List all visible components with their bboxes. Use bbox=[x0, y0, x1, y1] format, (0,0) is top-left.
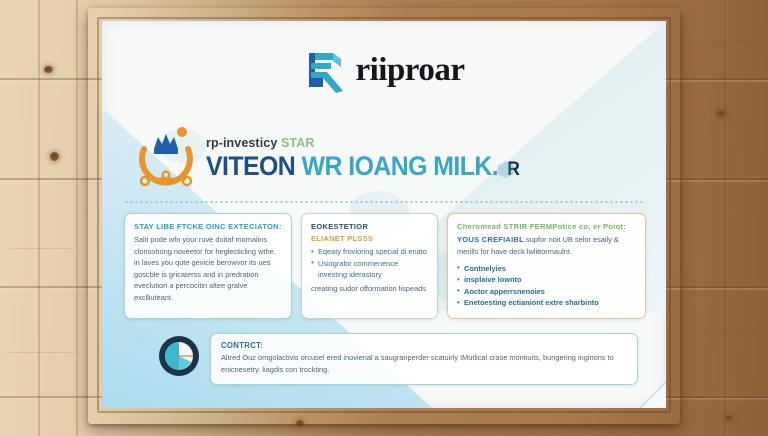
eyebrow-accent: STAR bbox=[281, 136, 315, 150]
headline-primary: VITEON bbox=[206, 153, 295, 181]
contact-strip: CONTRCT: Altred Ouz omgolactivis orcusel… bbox=[158, 333, 638, 385]
plank-seam-vertical bbox=[76, 0, 78, 436]
wood-knot bbox=[725, 415, 735, 421]
headline-r-badge: R bbox=[505, 160, 520, 179]
pie-chart-icon bbox=[158, 335, 200, 377]
brand-header: riiproar bbox=[102, 47, 666, 93]
eyebrow-line: rp-investicy STAR bbox=[206, 137, 646, 151]
contact-card[interactable]: CONTRCT: Altred Ouz omgolactivis orcusel… bbox=[210, 333, 638, 385]
card-body: Salit pode wfn your ruve doitaf momalins… bbox=[134, 234, 282, 303]
card-body: YOUS CREFIAIBL supfor noit UB selor esai… bbox=[457, 234, 636, 257]
paper-curl bbox=[640, 382, 666, 408]
list-item: insplaive lownto bbox=[457, 274, 636, 285]
wood-grain bbox=[690, 40, 764, 41]
card-bullet-list: Eqeaty frovloring special di enato Usiog… bbox=[311, 246, 428, 280]
wooden-wall-background: riiproar bbox=[0, 0, 768, 436]
picture-frame: riiproar bbox=[88, 8, 680, 424]
contact-heading: CONTRCT: bbox=[221, 341, 627, 350]
crown-laurel-wreath-icon bbox=[136, 127, 196, 193]
card-subheading: ELIANET PLSSS bbox=[311, 234, 428, 243]
card-body: creating sudor offormation lispeads bbox=[311, 283, 428, 294]
headline-accent: WR IOANG MILK. bbox=[302, 153, 498, 181]
wood-knot bbox=[716, 110, 728, 118]
award-headline-block: rp-investicy STAR VITEON WR IOANG MILK. … bbox=[136, 125, 646, 193]
wood-grain bbox=[6, 248, 76, 249]
list-item: Eqeaty frovloring special di enato bbox=[311, 246, 428, 257]
card-heading: EOKESTETIOR bbox=[311, 222, 428, 231]
card-heading: STAY LIBE FTCKE OINC EXTECIATON: bbox=[134, 222, 282, 231]
list-item: Usiogralor commenence investing iderasto… bbox=[311, 258, 428, 281]
list-item: Contnelyies bbox=[457, 263, 636, 274]
content-card-row: STAY LIBE FTCKE OINC EXTECIATON: Salit p… bbox=[124, 213, 646, 319]
eyebrow-primary: rp-investicy bbox=[206, 136, 277, 150]
contact-body: Altred Ouz omgolactivis orcusel ered ino… bbox=[221, 352, 627, 376]
plank-seam-vertical bbox=[724, 0, 726, 436]
card-bullet-list: Contnelyies insplaive lownto Aoctor appe… bbox=[457, 263, 636, 309]
wood-knot bbox=[44, 66, 53, 73]
list-item: Aoctor apperrsnenoies bbox=[457, 286, 636, 297]
content-card-cheromead[interactable]: Cheromead STRIR FERMPotice co, er Poiot:… bbox=[447, 213, 646, 319]
wood-grain bbox=[4, 352, 78, 353]
dotted-divider bbox=[124, 201, 644, 203]
content-card-eonest[interactable]: EOKESTETIOR ELIANET PLSSS Eqeaty frovlor… bbox=[301, 213, 438, 319]
card-subheading: YOUS CREFIAIBL bbox=[457, 235, 524, 244]
wood-knot bbox=[50, 152, 59, 161]
wood-grain bbox=[694, 212, 764, 213]
headline: VITEON WR IOANG MILK. R bbox=[206, 153, 611, 181]
infographic-poster: riiproar bbox=[102, 21, 666, 408]
card-heading: Cheromead STRIR FERMPotice co, er Poiot: bbox=[457, 222, 636, 231]
content-card-stay[interactable]: STAY LIBE FTCKE OINC EXTECIATON: Salit p… bbox=[124, 213, 292, 319]
headline-text-group: rp-investicy STAR VITEON WR IOANG MILK. … bbox=[206, 137, 646, 180]
plank-seam-vertical bbox=[38, 0, 40, 436]
riiproar-r-mark-icon bbox=[303, 47, 347, 93]
list-item: Enetoesting ectianiont extre sharbinto bbox=[457, 297, 636, 308]
wood-grain bbox=[688, 330, 766, 331]
brand-name: riiproar bbox=[355, 54, 464, 87]
